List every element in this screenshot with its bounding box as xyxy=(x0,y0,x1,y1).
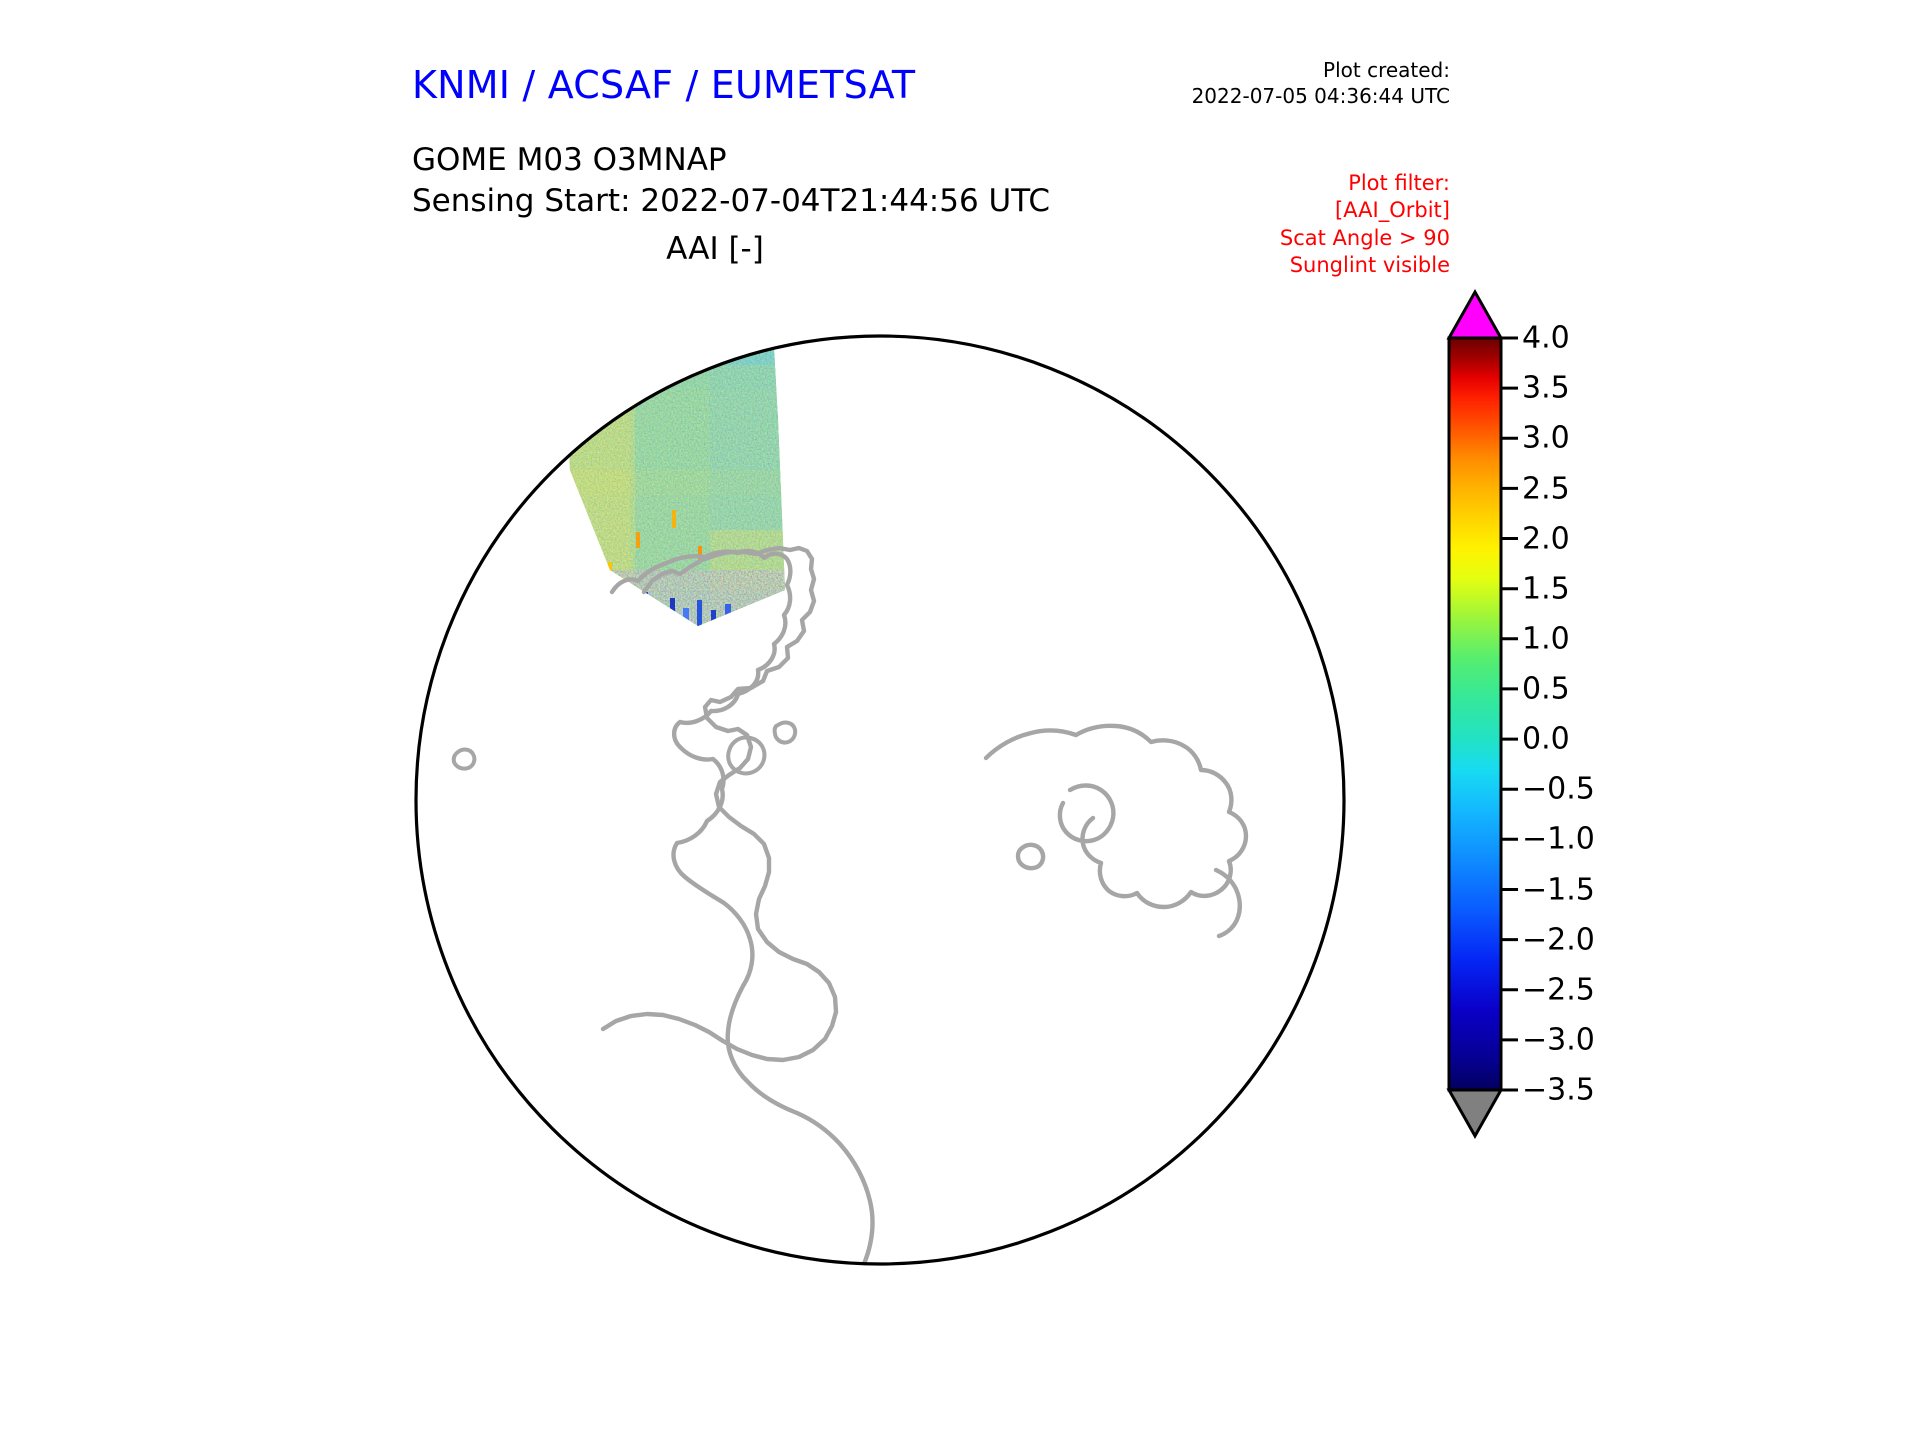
colorbar-ticks xyxy=(1501,338,1518,1090)
colorbar-label-14: −3.0 xyxy=(1522,1023,1595,1058)
dataset-block: GOME M03 O3MNAP Sensing Start: 2022-07-0… xyxy=(412,140,1050,222)
colorbar-label-0: 4.0 xyxy=(1522,321,1570,356)
colorbar-label-6: 1.0 xyxy=(1522,622,1570,657)
colorbar-svg xyxy=(1430,280,1750,1340)
plot-filter-block: Plot filter: [AAI_Orbit] Scat Angle > 90… xyxy=(1280,170,1450,279)
colorbar-label-5: 1.5 xyxy=(1522,572,1570,607)
colorbar-label-9: −0.5 xyxy=(1522,772,1595,807)
colorbar-label-15: −3.5 xyxy=(1522,1073,1595,1108)
colorbar-over-arrow xyxy=(1449,292,1501,338)
dataset-name: GOME M03 O3MNAP xyxy=(412,140,1050,181)
colorbar: 4.0 3.5 3.0 2.5 2.0 1.5 1.0 0.5 0.0 −0.5… xyxy=(1430,280,1750,1340)
filter-line-1: Plot filter: xyxy=(1280,170,1450,197)
variable-title: AAI [-] xyxy=(0,231,1430,267)
colorbar-label-4: 2.0 xyxy=(1522,522,1570,557)
small-island xyxy=(454,750,475,769)
new-zealand xyxy=(698,270,770,362)
map-area xyxy=(380,270,1380,1330)
colorbar-gradient xyxy=(1449,338,1501,1090)
filter-line-3: Scat Angle > 90 xyxy=(1280,225,1450,252)
organisation-title: KNMI / ACSAF / EUMETSAT xyxy=(412,63,915,107)
plot-created-timestamp: 2022-07-05 04:36:44 UTC xyxy=(1192,84,1450,110)
plot-created-label: Plot created: xyxy=(1192,58,1450,84)
filter-line-2: [AAI_Orbit] xyxy=(1280,197,1450,224)
plot-page: KNMI / ACSAF / EUMETSAT Plot created: 20… xyxy=(0,0,1920,1440)
island-left xyxy=(523,321,570,364)
sensing-start: Sensing Start: 2022-07-04T21:44:56 UTC xyxy=(412,181,1050,222)
colorbar-label-1: 3.5 xyxy=(1522,371,1570,406)
plot-created-block: Plot created: 2022-07-05 04:36:44 UTC xyxy=(1192,58,1450,109)
colorbar-label-2: 3.0 xyxy=(1522,421,1570,456)
colorbar-under-arrow xyxy=(1449,1090,1501,1136)
colorbar-label-13: −2.5 xyxy=(1522,973,1595,1008)
colorbar-label-8: 0.0 xyxy=(1522,722,1570,757)
colorbar-label-11: −1.5 xyxy=(1522,873,1595,908)
colorbar-label-3: 2.5 xyxy=(1522,472,1570,507)
colorbar-label-10: −1.0 xyxy=(1522,822,1595,857)
final-geography xyxy=(986,726,1246,936)
polar-map-svg xyxy=(380,270,1380,1330)
colorbar-label-7: 0.5 xyxy=(1522,672,1570,707)
colorbar-label-12: −2.0 xyxy=(1522,923,1595,958)
